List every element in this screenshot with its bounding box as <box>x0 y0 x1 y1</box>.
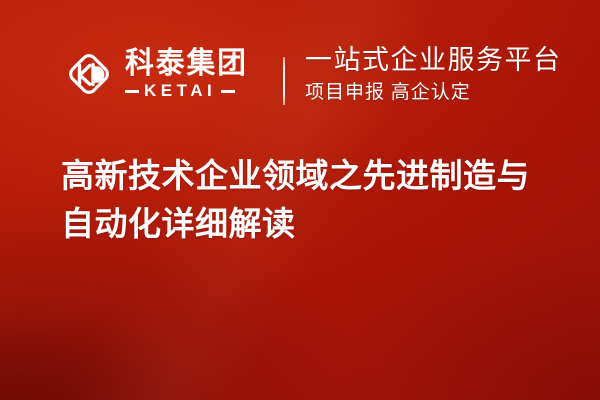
tagline-group: 一站式企业服务平台 项目申报 高企认定 <box>305 44 562 105</box>
brand-wordmark: 科泰集团 KETAI <box>125 48 253 100</box>
dash-right-icon <box>221 90 235 93</box>
tagline-secondary: 项目申报 高企认定 <box>305 81 562 105</box>
brand-name-latin-row: KETAI <box>125 82 253 100</box>
dash-left-icon <box>125 90 139 93</box>
promo-banner: 科泰集团 KETAI 一站式企业服务平台 项目申报 高企认定 高新技术企业领域之… <box>0 0 600 400</box>
vertical-divider-icon <box>283 57 285 105</box>
ketai-diamond-kp-logo-icon <box>62 47 116 101</box>
brand-name-latin: KETAI <box>144 82 216 100</box>
banner-header: 科泰集团 KETAI 一站式企业服务平台 项目申报 高企认定 <box>0 0 600 140</box>
brand-name-chinese: 科泰集团 <box>125 48 248 80</box>
brand-logo[interactable]: 科泰集团 KETAI <box>62 44 253 104</box>
tagline-primary: 一站式企业服务平台 <box>305 44 562 76</box>
page-title: 高新技术企业领域之先进制造与自动化详细解读 <box>61 152 561 248</box>
